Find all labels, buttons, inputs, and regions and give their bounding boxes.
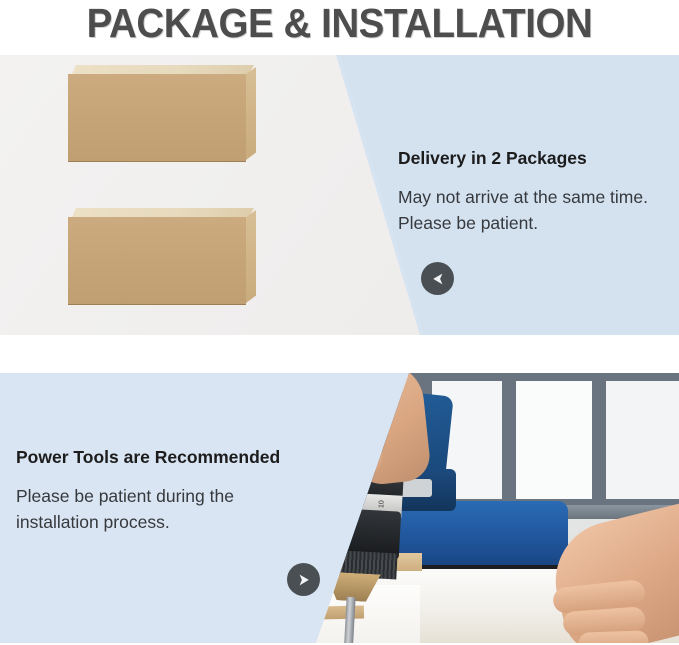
carton-box-front-face bbox=[68, 74, 246, 162]
carton-box-2 bbox=[68, 208, 254, 304]
photo-window-pane bbox=[516, 381, 592, 499]
carton-box-1 bbox=[68, 65, 254, 161]
carton-box-front-face bbox=[68, 217, 246, 305]
delivery-heading: Delivery in 2 Packages bbox=[398, 148, 587, 169]
powertools-panel: 16 14 12 10 Power Tools are Recommended … bbox=[0, 373, 679, 643]
photo-window-pane bbox=[606, 381, 679, 499]
arrow-right-icon bbox=[287, 563, 320, 596]
powertools-body-text: Please be patient during the installatio… bbox=[16, 483, 316, 535]
torque-number: 10 bbox=[378, 500, 385, 508]
carton-box-side-face bbox=[246, 67, 256, 160]
carton-box-side-face bbox=[246, 210, 256, 303]
delivery-body-text: May not arrive at the same time. Please … bbox=[398, 184, 676, 236]
packages-panel: Delivery in 2 Packages May not arrive at… bbox=[0, 55, 679, 335]
finger bbox=[578, 630, 649, 643]
page-title: PACKAGE & INSTALLATION bbox=[20, 0, 658, 48]
arrow-left-icon bbox=[421, 262, 454, 295]
powertools-heading: Power Tools are Recommended bbox=[16, 447, 280, 468]
